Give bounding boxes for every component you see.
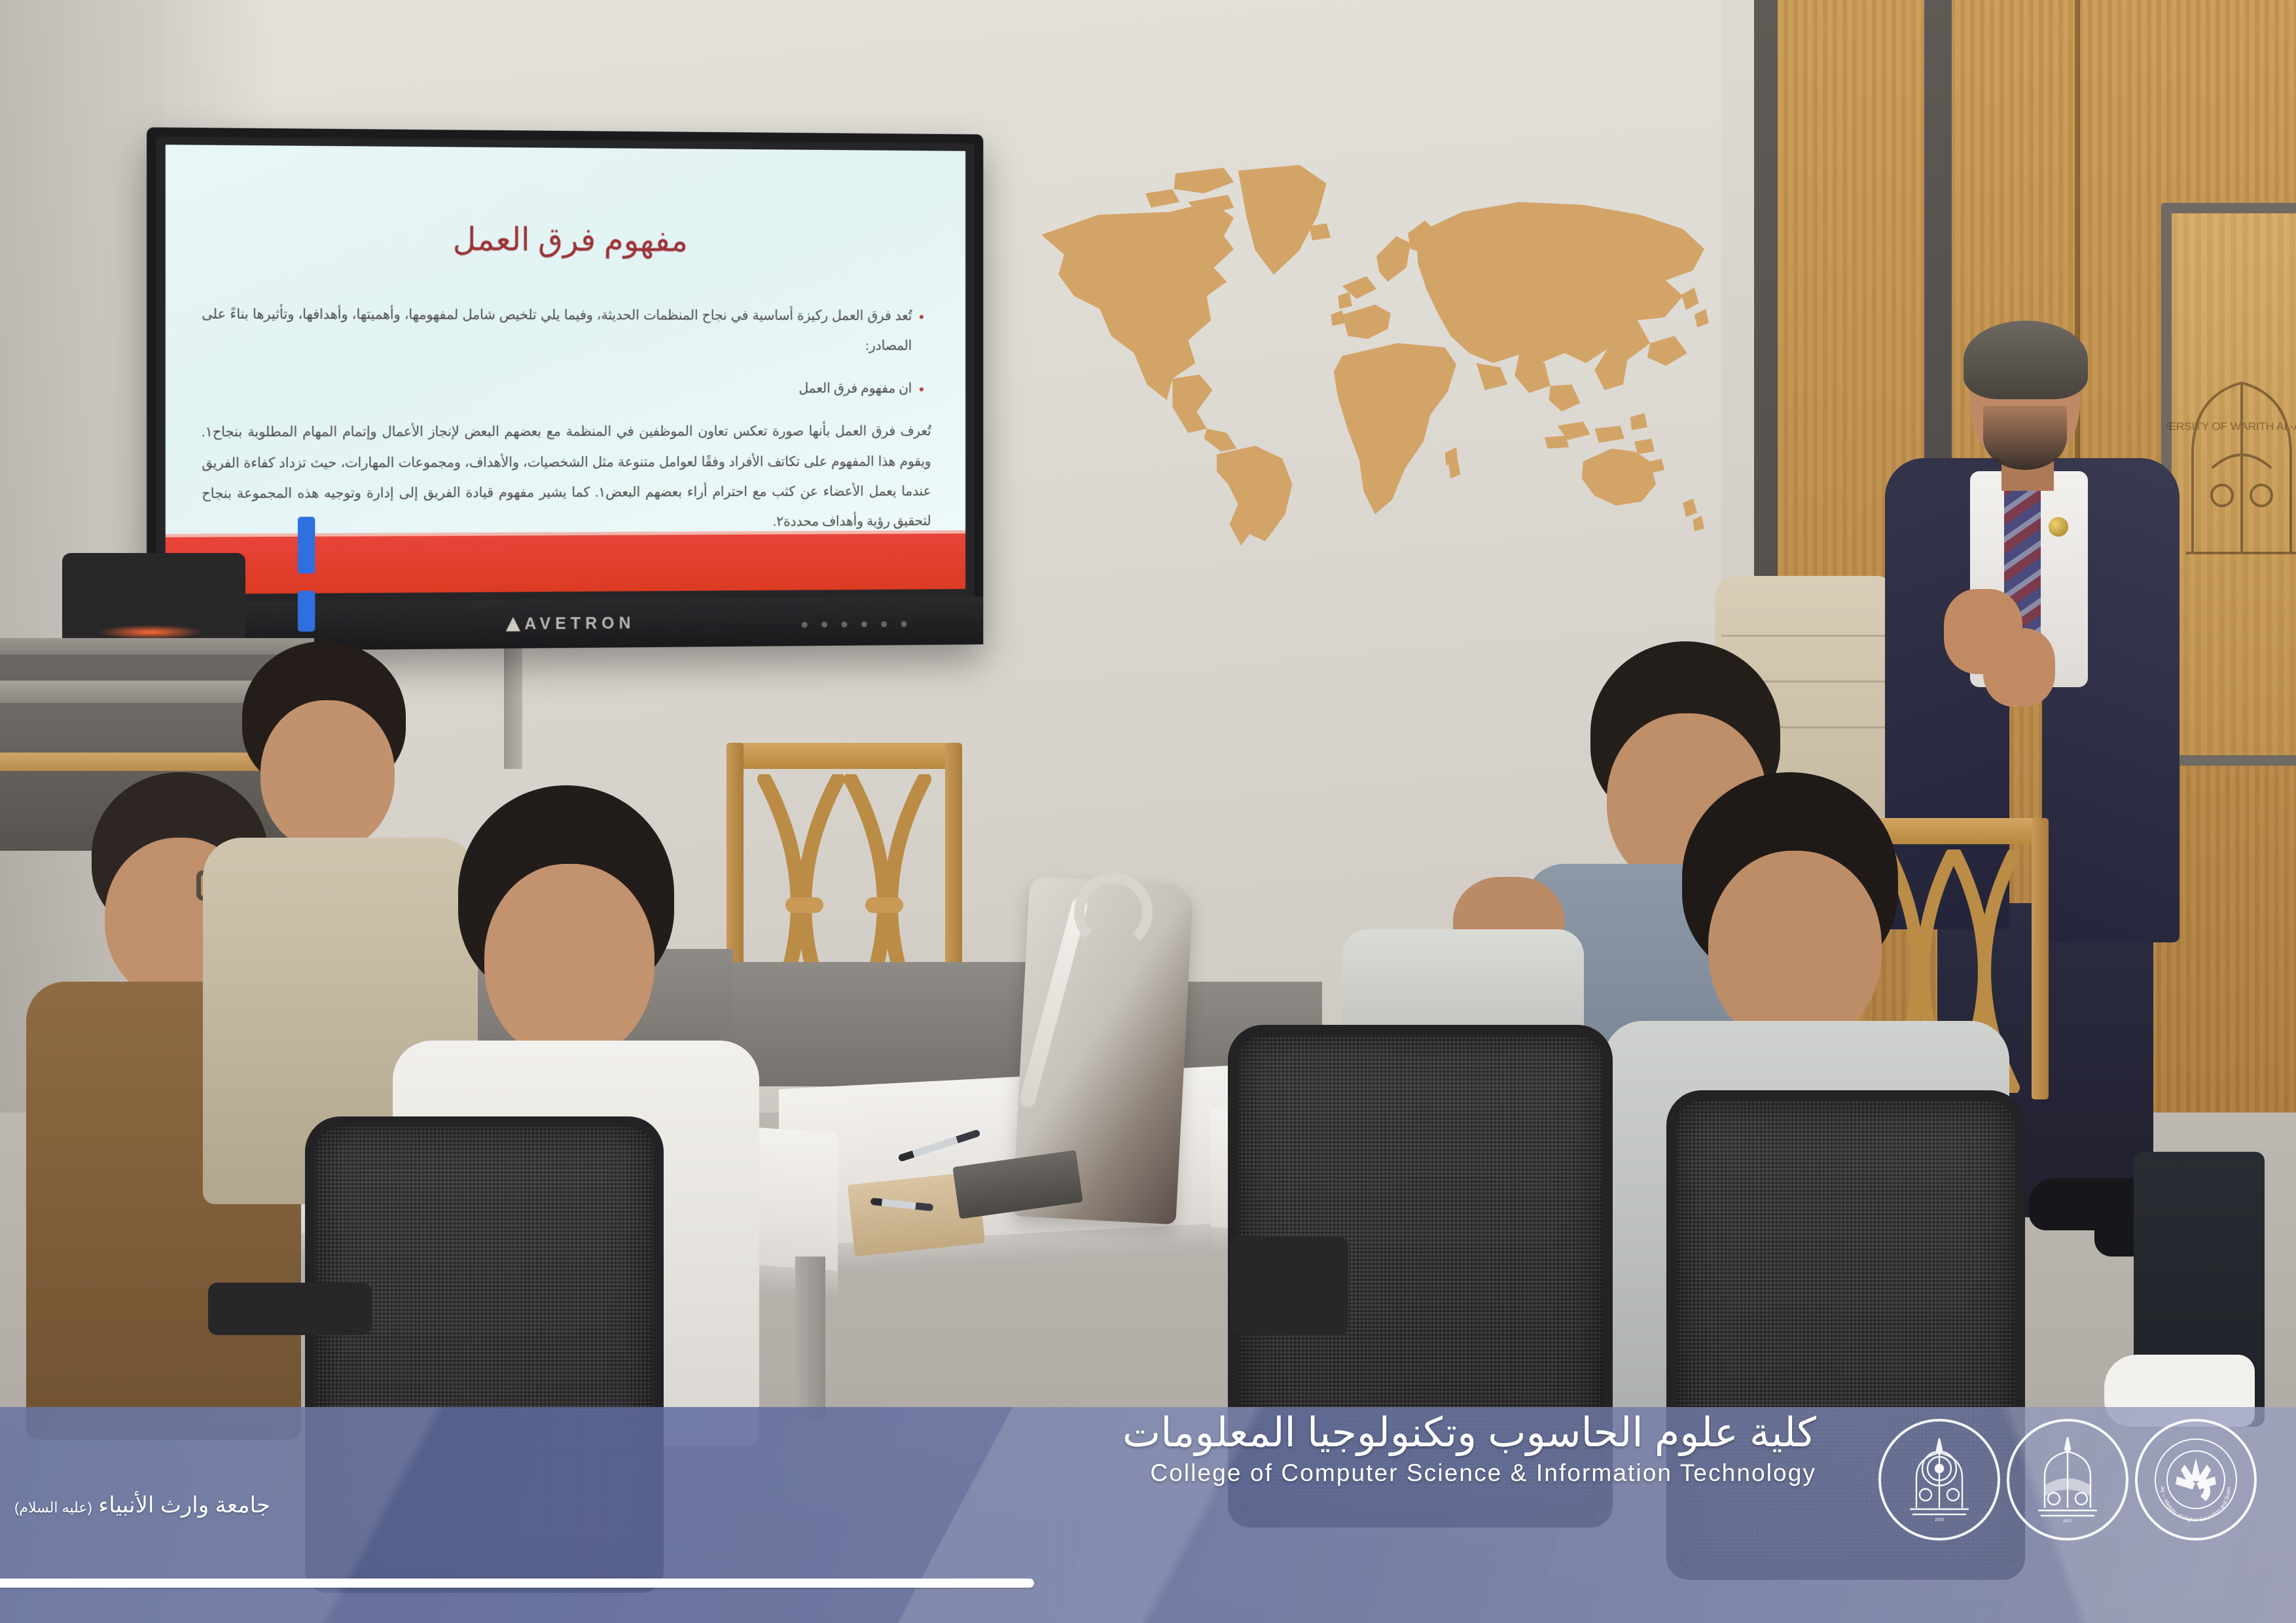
- display-screen[interactable]: مفهوم فرق العمل تُعد فرق العمل ركيزة أسا…: [166, 145, 965, 594]
- chair-top-rail: [726, 743, 962, 769]
- university-emblem-logo[interactable]: 2017: [2007, 1419, 2128, 1541]
- avetron-logo-icon: AVETRON: [506, 614, 635, 634]
- presentation-slide: مفهوم فرق العمل تُعد فرق العمل ركيزة أسا…: [166, 145, 965, 594]
- college-emblem-year: 2025: [1935, 1518, 1945, 1522]
- speaker-hand-left: [1983, 628, 2055, 707]
- display-side-button-down[interactable]: [298, 591, 315, 632]
- laptop-backlight-glow: [98, 625, 203, 639]
- slide-body: تُعد فرق العمل ركيزة أساسية في نجاح المن…: [202, 299, 931, 539]
- display-key-dot[interactable]: [901, 621, 907, 627]
- screenshot-root: UNIVERSITY OF WARITH AL-ANBIYAA: [0, 0, 2296, 1623]
- chair-post-right: [2032, 818, 2049, 1099]
- slide-bullet-1: تُعد فرق العمل ركيزة أساسية في نجاح المن…: [202, 299, 912, 361]
- slide-bullet-2: ان مفهوم فرق العمل: [202, 374, 912, 404]
- footer-banner: جامعة وارث الأنبياء (عليه السلام) كلية ع…: [0, 1407, 2296, 1623]
- desk-leg-left: [795, 1257, 825, 1420]
- backpack-strap: [1072, 870, 1155, 953]
- college-name-english: College of Computer Science & Informatio…: [1093, 1459, 1816, 1487]
- display-key-dot[interactable]: [802, 622, 808, 628]
- university-name-suffix: (عليه السلام): [14, 1499, 92, 1516]
- slide-footer-bar: [166, 533, 965, 594]
- footer-logo-group: 2025 2017: [1878, 1419, 2257, 1541]
- university-name-arabic: جامعة وارث الأنبياء (عليه السلام): [14, 1492, 270, 1518]
- display-key-dot[interactable]: [842, 622, 848, 628]
- college-name-arabic: كلية علوم الحاسوب وتكنولوجيا المعلومات: [1162, 1408, 1816, 1456]
- display-key-dot[interactable]: [861, 622, 867, 628]
- display-control-keys[interactable]: [802, 621, 907, 628]
- display-stand: [504, 645, 522, 769]
- office-chair-right-armrest[interactable]: [1230, 1237, 1348, 1335]
- smart-display[interactable]: مفهوم فرق العمل تُعد فرق العمل ركيزة أسا…: [147, 127, 983, 651]
- university-name-text: جامعة وارث الأنبياء: [98, 1493, 270, 1518]
- college-emblem-logo[interactable]: 2025: [1878, 1419, 2000, 1541]
- ministry-emblem-logo[interactable]: Republic of Iraq — Ministry of Higher Ed…: [2135, 1419, 2257, 1541]
- display-brand-label: AVETRON: [524, 614, 635, 633]
- footer-divider-line: [0, 1578, 1034, 1588]
- speaker-hair: [1964, 321, 2088, 399]
- slide-title: مفهوم فرق العمل: [202, 219, 931, 260]
- speaker-lapel-pin-icon: [2049, 517, 2068, 537]
- world-map-wall-art: [1013, 149, 1740, 548]
- university-emblem-year: 2017: [2063, 1519, 2073, 1524]
- display-side-button-up[interactable]: [298, 517, 315, 574]
- display-key-dot[interactable]: [821, 622, 827, 628]
- avetron-triangle-icon: [506, 617, 520, 632]
- office-chair-left-armrest[interactable]: [208, 1283, 372, 1335]
- university-emblem-carving: UNIVERSITY OF WARITH AL-ANBIYAA: [2166, 357, 2296, 573]
- emblem-caption: UNIVERSITY OF WARITH AL-ANBIYAA: [2166, 420, 2296, 433]
- speaker-beard: [1983, 406, 2067, 470]
- display-key-dot[interactable]: [881, 621, 887, 627]
